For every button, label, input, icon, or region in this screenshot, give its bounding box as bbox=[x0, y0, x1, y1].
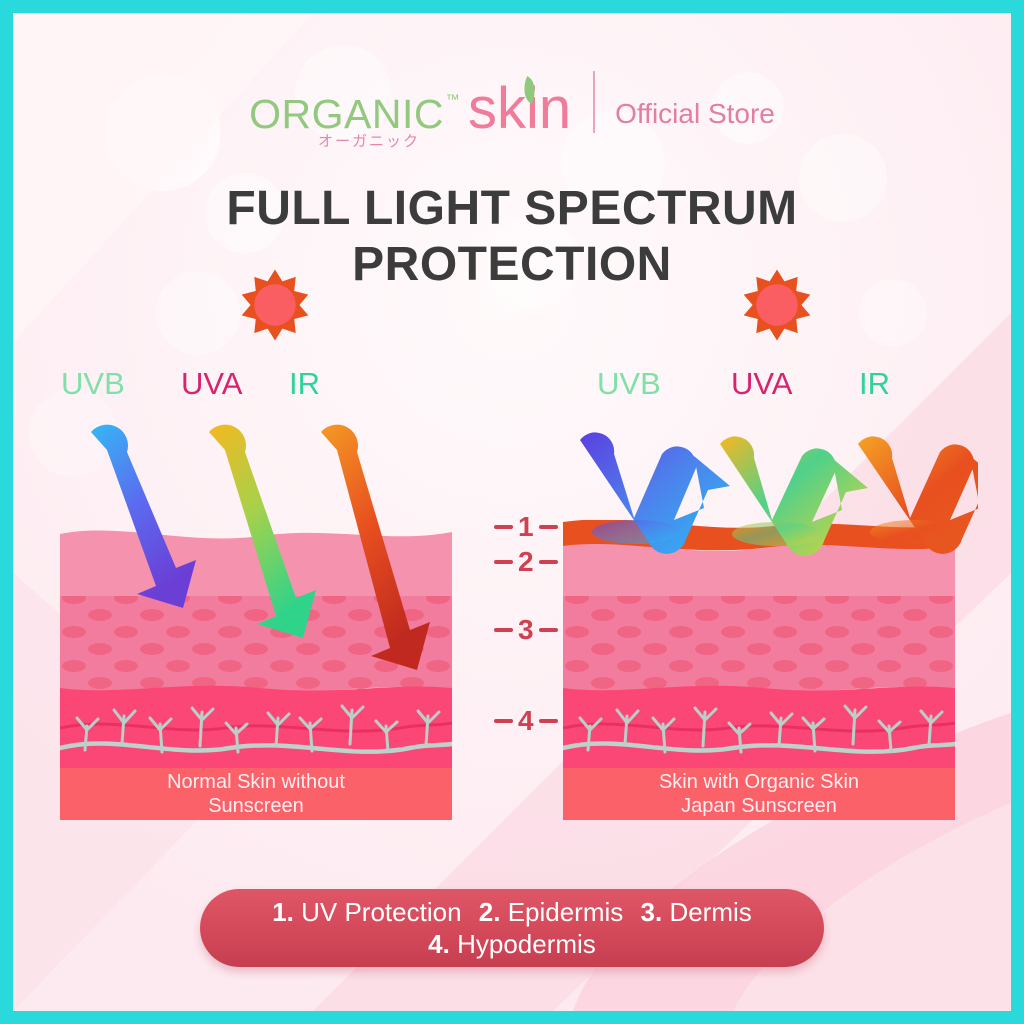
panel-left-caption: Normal Skin without Sunscreen bbox=[60, 768, 452, 820]
spectrum-label-uvb-left: UVB bbox=[61, 366, 125, 402]
title-line-2: PROTECTION bbox=[13, 237, 1011, 293]
ray-arrow-ir bbox=[321, 425, 430, 670]
scale-number: 2 bbox=[518, 546, 534, 578]
outer-border-frame: ORGANIC ™ オーガニック skin Official Store FUL… bbox=[0, 0, 1024, 1024]
dash-right bbox=[539, 719, 558, 723]
legend-bar: 1. UV Protection 2. Epidermis 3. Dermis … bbox=[200, 889, 824, 967]
scale-marker-1: 1 bbox=[494, 511, 558, 543]
reflected-arrow-uva bbox=[720, 436, 868, 555]
caption-line-1: Normal Skin without bbox=[167, 770, 345, 794]
legend-item-4: 4. Hypodermis bbox=[428, 929, 596, 959]
legend-number-3: 3. bbox=[641, 897, 663, 927]
dash-right bbox=[539, 628, 558, 632]
legend-item-1: 1. UV Protection bbox=[272, 897, 461, 927]
legend-label-1: UV Protection bbox=[301, 897, 461, 927]
spectrum-label-ir-left: IR bbox=[289, 366, 320, 402]
panel-right-caption: Skin with Organic Skin Japan Sunscreen bbox=[563, 768, 955, 820]
dash-left bbox=[494, 719, 513, 723]
reflected-rays-group bbox=[558, 408, 978, 623]
legend-label-3: Dermis bbox=[669, 897, 751, 927]
official-store-label: Official Store bbox=[615, 100, 775, 135]
penetrating-rays-group bbox=[53, 408, 473, 708]
scale-marker-4: 4 bbox=[494, 705, 558, 737]
trademark-symbol: ™ bbox=[445, 92, 460, 106]
caption-line-2: Japan Sunscreen bbox=[659, 794, 859, 818]
title-line-1: FULL LIGHT SPECTRUM bbox=[13, 181, 1011, 237]
scale-marker-3: 3 bbox=[494, 614, 558, 646]
brand-logo: ORGANIC ™ オーガニック skin Official Store bbox=[13, 71, 1011, 135]
scale-marker-2: 2 bbox=[494, 546, 558, 578]
logo-japanese-text: オーガニック bbox=[318, 134, 420, 149]
legend-item-3: 3. Dermis bbox=[641, 897, 752, 927]
dash-left bbox=[494, 628, 513, 632]
reflected-arrow-uvb bbox=[580, 432, 730, 553]
scale-number: 3 bbox=[518, 614, 534, 646]
logo-divider bbox=[593, 71, 595, 133]
legend-number-4: 4. bbox=[428, 929, 450, 959]
legend-label-4: Hypodermis bbox=[457, 929, 596, 959]
logo-organic-word: ORGANIC ™ オーガニック bbox=[249, 94, 444, 135]
legend-label-2: Epidermis bbox=[508, 897, 624, 927]
logo-skin-text: skin bbox=[468, 76, 571, 141]
spectrum-label-ir-right: IR bbox=[859, 366, 890, 402]
scale-number: 1 bbox=[518, 511, 534, 543]
caption-line-2: Sunscreen bbox=[167, 794, 345, 818]
legend-number-2: 2. bbox=[479, 897, 501, 927]
reflected-arrow-ir bbox=[858, 436, 978, 553]
page-title: FULL LIGHT SPECTRUM PROTECTION bbox=[13, 181, 1011, 292]
logo-skin-word: skin bbox=[468, 82, 571, 135]
legend-number-1: 1. bbox=[272, 897, 294, 927]
logo-organic-text: ORGANIC bbox=[249, 91, 444, 137]
scale-number: 4 bbox=[518, 705, 534, 737]
caption-line-1: Skin with Organic Skin bbox=[659, 770, 859, 794]
sun-icon bbox=[740, 268, 814, 342]
spectrum-label-uvb-right: UVB bbox=[597, 366, 661, 402]
dash-left bbox=[494, 560, 513, 564]
dash-right bbox=[539, 560, 558, 564]
sun-icon bbox=[238, 268, 312, 342]
poster-canvas: ORGANIC ™ オーガニック skin Official Store FUL… bbox=[13, 13, 1011, 1011]
ray-arrow-uvb bbox=[91, 425, 196, 608]
spectrum-label-uva-left: UVA bbox=[181, 366, 242, 402]
ray-arrow-uva bbox=[209, 425, 316, 638]
spectrum-label-uva-right: UVA bbox=[731, 366, 792, 402]
legend-item-2: 2. Epidermis bbox=[479, 897, 624, 927]
dash-right bbox=[539, 525, 558, 529]
dash-left bbox=[494, 525, 513, 529]
